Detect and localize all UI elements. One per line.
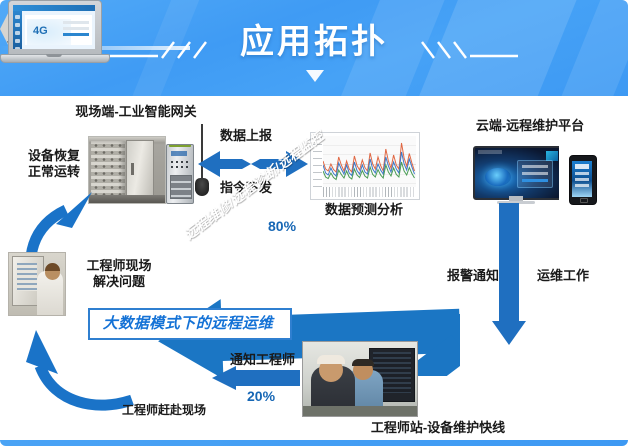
arrow-engineer-to-site	[14, 318, 140, 414]
triangle-down-icon	[306, 70, 324, 82]
notify-engineer-percent: 20%	[247, 388, 275, 404]
field-gateway-title: 现场端-工业智能网关	[46, 104, 226, 120]
desktop-monitor	[473, 146, 559, 204]
engineer-station-caption: 工程师站-设备维护快线	[318, 420, 558, 436]
engineer-onsite-label: 工程师现场 解决问题	[72, 258, 166, 290]
two-engineers-photo	[302, 341, 418, 417]
iot-gateway-device	[166, 144, 194, 204]
data-upload-label: 数据上报	[194, 128, 298, 144]
device-recovery-label: 设备恢复 正常运转	[16, 148, 92, 180]
engineer-travel-caption: 工程师赶赴现场	[108, 403, 220, 418]
slash-decoration-right-icon	[408, 40, 518, 60]
ops-work-label: 运维工作	[537, 268, 589, 284]
cloud-platform-title: 云端-远程维护平台	[450, 118, 610, 134]
bottom-accent-bar	[0, 440, 628, 446]
chart-lines	[323, 136, 416, 187]
arrow-notify-engineer	[208, 366, 300, 390]
prediction-chart	[310, 132, 420, 200]
remote-services-percent: 80%	[268, 218, 296, 234]
smartphone	[569, 155, 597, 205]
notify-engineer-label: 通知工程师	[230, 352, 295, 368]
laptop-screen-text: 4G	[33, 25, 48, 37]
engineer-onsite-photo	[8, 252, 66, 316]
application-topology-diagram: 应用拓扑 现场端-工业智能网关 设备恢复 正常运转 数据	[0, 0, 628, 446]
